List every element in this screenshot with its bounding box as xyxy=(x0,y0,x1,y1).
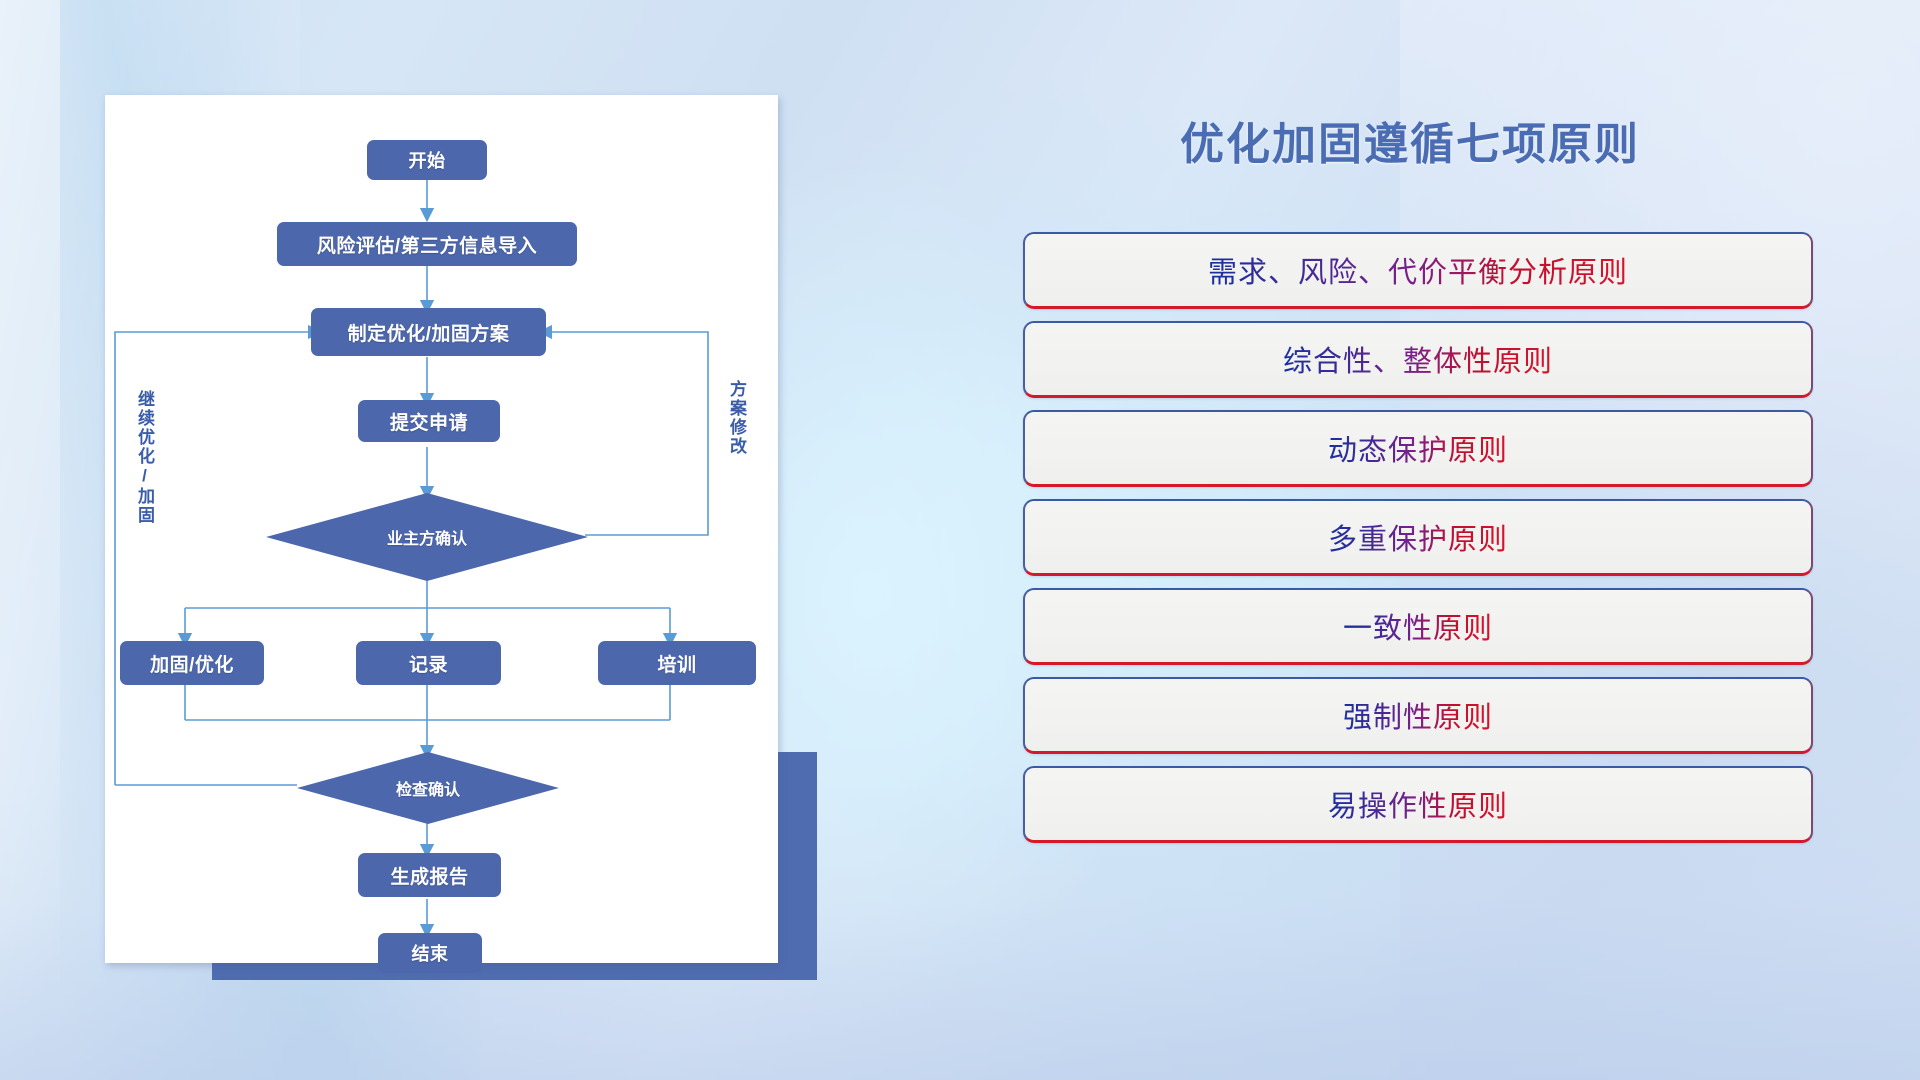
principle-item[interactable]: 动态保护原则 xyxy=(1023,410,1813,487)
flow-node-end[interactable]: 结束 xyxy=(378,933,482,973)
flow-decision-owner-confirm[interactable]: 业主方确认 xyxy=(266,493,588,581)
edge-label-text: 继续优化/加固 xyxy=(135,390,154,525)
flow-node-label: 风险评估/第三方信息导入 xyxy=(317,231,537,258)
edge-label-continue-optimize: 继续优化/加固 xyxy=(132,390,157,525)
flow-node-plan[interactable]: 制定优化/加固方案 xyxy=(311,308,546,356)
flow-node-submit-application[interactable]: 提交申请 xyxy=(358,400,500,442)
flow-node-reinforce[interactable]: 加固/优化 xyxy=(120,641,264,685)
principles-list: 需求、风险、代价平衡分析原则 综合性、整体性原则 动态保护原则 多重保护原则 一… xyxy=(1023,232,1813,855)
flow-node-label: 提交申请 xyxy=(390,408,468,435)
principle-label: 动态保护原则 xyxy=(1328,427,1508,469)
flow-node-risk-assessment[interactable]: 风险评估/第三方信息导入 xyxy=(277,222,577,266)
principle-label: 需求、风险、代价平衡分析原则 xyxy=(1208,249,1628,291)
flow-node-label: 培训 xyxy=(657,650,696,677)
principles-panel: 优化加固遵循七项原则 需求、风险、代价平衡分析原则 综合性、整体性原则 动态保护… xyxy=(960,0,1920,1080)
principle-label: 多重保护原则 xyxy=(1328,516,1508,558)
flow-decision-check-confirm[interactable]: 检查确认 xyxy=(297,752,559,824)
flow-node-record[interactable]: 记录 xyxy=(356,641,501,685)
flow-node-label: 业主方确认 xyxy=(387,525,467,549)
page-title: 优化加固遵循七项原则 xyxy=(960,108,1860,172)
principle-label: 一致性原则 xyxy=(1343,605,1493,647)
flowchart-card: 开始 风险评估/第三方信息导入 制定优化/加固方案 提交申请 业主方确认 加固/… xyxy=(105,95,778,963)
principle-item[interactable]: 一致性原则 xyxy=(1023,588,1813,665)
principle-item[interactable]: 综合性、整体性原则 xyxy=(1023,321,1813,398)
principle-label: 易操作性原则 xyxy=(1328,783,1508,825)
edge-label-text: 方案修改 xyxy=(727,380,746,456)
flowchart-panel: 开始 风险评估/第三方信息导入 制定优化/加固方案 提交申请 业主方确认 加固/… xyxy=(0,0,920,1080)
flow-node-label: 开始 xyxy=(409,147,446,173)
principle-item[interactable]: 易操作性原则 xyxy=(1023,766,1813,843)
flow-node-label: 结束 xyxy=(412,940,449,966)
principle-item[interactable]: 多重保护原则 xyxy=(1023,499,1813,576)
principle-item[interactable]: 需求、风险、代价平衡分析原则 xyxy=(1023,232,1813,309)
flow-node-label: 检查确认 xyxy=(396,776,460,800)
principle-label: 强制性原则 xyxy=(1343,694,1493,736)
flow-node-label: 记录 xyxy=(409,650,448,677)
flow-node-label: 制定优化/加固方案 xyxy=(348,319,510,346)
edge-label-plan-revision: 方案修改 xyxy=(724,380,749,456)
principle-item[interactable]: 强制性原则 xyxy=(1023,677,1813,754)
flow-node-label: 加固/优化 xyxy=(150,650,234,677)
flow-node-generate-report[interactable]: 生成报告 xyxy=(358,853,501,897)
flow-node-label: 生成报告 xyxy=(390,862,468,889)
principle-label: 综合性、整体性原则 xyxy=(1283,338,1553,380)
flow-node-start[interactable]: 开始 xyxy=(367,140,487,180)
flow-node-training[interactable]: 培训 xyxy=(598,641,756,685)
